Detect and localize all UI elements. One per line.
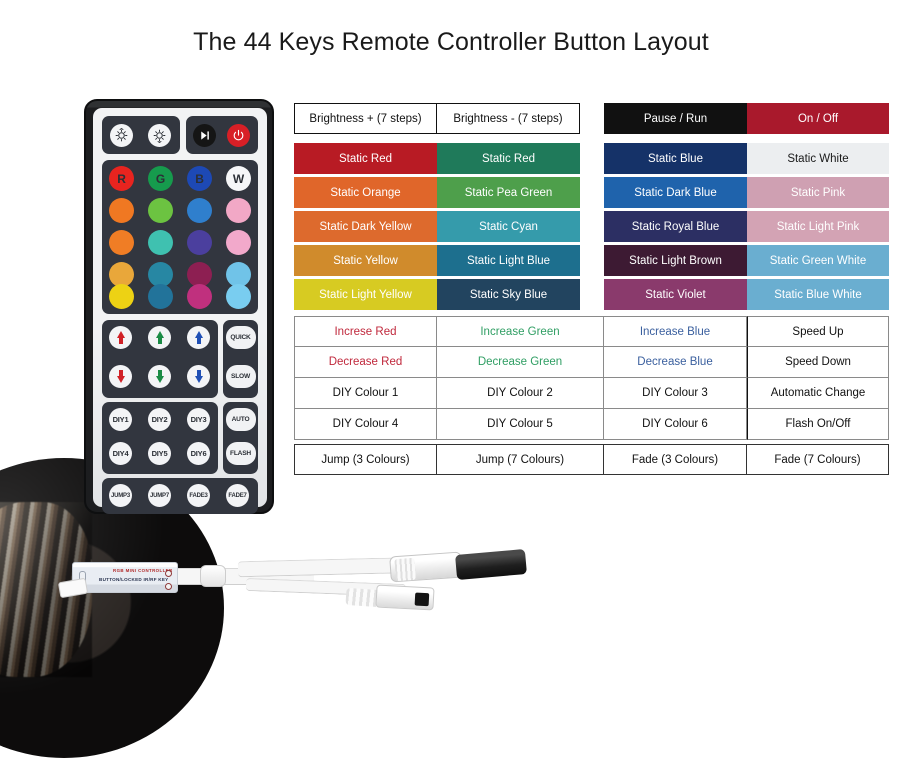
mini-controller-photo: RGB MINI CONTROLLER BUTTON/LOCKED IR/RF … (60, 548, 540, 638)
color-key-light-yellow[interactable] (109, 284, 134, 309)
cell-control[interactable]: Increase Green (437, 316, 604, 347)
auto-key[interactable]: AUTO (226, 408, 256, 431)
color-key-sky-blue[interactable] (148, 284, 173, 309)
cell-control[interactable]: Decrease Blue (604, 347, 747, 378)
power-key[interactable] (227, 124, 250, 147)
cell-control[interactable]: Decrease Green (437, 347, 604, 378)
auto-key-label: AUTO (232, 416, 250, 423)
cell-jump-fade[interactable]: Fade (3 Colours) (604, 444, 747, 475)
cell-brightness-minus[interactable]: Brightness - (7 steps) (437, 103, 580, 134)
diy2-label: DIY2 (152, 415, 168, 424)
color-key-dark-blue[interactable] (187, 198, 212, 223)
color-key-label: W (233, 172, 244, 186)
cell-control[interactable]: Increase Blue (604, 316, 747, 347)
barrel-jack-male (455, 549, 527, 580)
table-row-control: Increse RedIncrease GreenIncrease BlueSp… (294, 316, 889, 347)
color-key-label: G (156, 172, 165, 186)
cell-static-color[interactable]: Static Blue (604, 143, 747, 174)
fade3-label: FADE3 (189, 493, 207, 499)
cell-static-color[interactable]: Static Royal Blue (604, 211, 747, 242)
cell-static-color[interactable]: Static Light Blue (437, 245, 580, 276)
increase-green-key[interactable] (148, 326, 171, 349)
cell-static-color[interactable]: Static Red (294, 143, 437, 174)
cell-control[interactable]: Automatic Change (747, 378, 889, 409)
table-row-control: Decrease RedDecrease GreenDecrease BlueS… (294, 347, 889, 378)
color-key-cyan[interactable] (148, 230, 173, 255)
fade3-key[interactable]: FADE3 (187, 484, 210, 507)
flash-key[interactable]: FLASH (226, 442, 256, 465)
cell-static-color[interactable]: Static Orange (294, 177, 437, 208)
diy1-key[interactable]: DIY1 (109, 408, 132, 431)
cell-static-color[interactable]: Static Blue White (747, 279, 889, 310)
jump3-label: JUMP3 (111, 493, 130, 499)
cell-control[interactable]: Speed Down (747, 347, 889, 378)
arrow-up-icon (195, 331, 203, 344)
cell-static-color[interactable]: Static Pea Green (437, 177, 580, 208)
color-key-label: B (195, 172, 203, 186)
cell-static-color[interactable]: Static Light Brown (604, 245, 747, 276)
cell-control[interactable]: DIY Colour 4 (294, 409, 437, 440)
cell-jump-fade[interactable]: Jump (7 Colours) (437, 444, 604, 475)
table-row-control: DIY Colour 4DIY Colour 5DIY Colour 6Flas… (294, 409, 889, 440)
spacer-column (580, 103, 604, 134)
static-color-rows: Static RedStatic RedStatic BlueStatic Wh… (294, 143, 889, 310)
diy4-label: DIY4 (113, 449, 129, 458)
rgb-adjust-keypad (102, 320, 218, 398)
cell-static-color[interactable]: Static Red (437, 143, 580, 174)
cell-control[interactable]: DIY Colour 1 (294, 378, 437, 409)
table-row-static: Static OrangeStatic Pea GreenStatic Dark… (294, 177, 889, 208)
diy3-key[interactable]: DIY3 (187, 408, 210, 431)
cell-static-color[interactable]: Static White (747, 143, 889, 174)
table-row-static: Static Dark YellowStatic CyanStatic Roya… (294, 211, 889, 242)
decrease-green-key[interactable] (148, 365, 171, 388)
table-row-control: DIY Colour 1DIY Colour 2DIY Colour 3Auto… (294, 378, 889, 409)
cell-static-color[interactable]: Static Dark Yellow (294, 211, 437, 242)
controller-body: RGB MINI CONTROLLER BUTTON/LOCKED IR/RF … (72, 562, 178, 593)
remote-faceplate: R G B W (93, 108, 267, 507)
cell-jump-fade[interactable]: Fade (7 Colours) (747, 444, 889, 475)
color-key-blue[interactable]: B (187, 166, 212, 191)
button-layout-table: Brightness + (7 steps) Brightness - (7 s… (294, 103, 889, 475)
decrease-red-key[interactable] (109, 365, 132, 388)
cell-control[interactable]: Increse Red (294, 316, 437, 347)
power-keypad (186, 116, 258, 154)
table-row-static: Static YellowStatic Light BlueStatic Lig… (294, 245, 889, 276)
arrow-down-icon (156, 370, 164, 383)
cell-static-color[interactable]: Static Violet (604, 279, 747, 310)
diy6-label: DIY6 (191, 449, 207, 458)
mode-keypad: AUTO FLASH (223, 402, 258, 474)
decrease-blue-key[interactable] (187, 365, 210, 388)
cell-brightness-plus[interactable]: Brightness + (7 steps) (294, 103, 437, 134)
table-row-jump-fade: Jump (3 Colours)Jump (7 Colours)Fade (3 … (294, 444, 889, 475)
color-key-violet[interactable] (187, 284, 212, 309)
spacer-column (580, 211, 604, 242)
row-spacer (294, 134, 889, 143)
barrel-jack-female (389, 552, 463, 583)
slow-key-label: SLOW (231, 373, 250, 380)
cell-static-color[interactable]: Static Light Yellow (294, 279, 437, 310)
color-key-orange[interactable] (109, 198, 134, 223)
cell-static-color[interactable]: Static Pink (747, 177, 889, 208)
diy6-key[interactable]: DIY6 (187, 442, 210, 465)
remote-controller: R G B W (84, 99, 274, 514)
color-key-blue-white[interactable] (226, 284, 251, 309)
speed-keypad: QUICK SLOW (223, 320, 258, 398)
fade7-key[interactable]: FADE7 (226, 484, 249, 507)
cell-control[interactable]: DIY Colour 2 (437, 378, 604, 409)
diy5-key[interactable]: DIY5 (148, 442, 171, 465)
controller-label-red: RGB MINI CONTROLLER (113, 568, 173, 573)
arrow-up-icon (117, 331, 125, 344)
brightness-keypad (102, 116, 180, 154)
diy4-key[interactable]: DIY4 (109, 442, 132, 465)
flash-key-label: FLASH (230, 450, 251, 457)
spacer-column (580, 279, 604, 310)
color-key-dark-yellow[interactable] (109, 230, 134, 255)
controller-strip-plug (58, 578, 88, 599)
spacer-column (580, 245, 604, 276)
page-title: The 44 Keys Remote Controller Button Lay… (0, 28, 902, 57)
color-keypad: R G B W (102, 160, 258, 314)
cell-control[interactable]: DIY Colour 5 (437, 409, 604, 440)
jump7-label: JUMP7 (150, 493, 169, 499)
arrow-down-icon (117, 370, 125, 383)
spacer-column (580, 177, 604, 208)
arrow-down-icon (195, 370, 203, 383)
diy1-label: DIY1 (113, 415, 129, 424)
color-key-royal-blue[interactable] (187, 230, 212, 255)
cell-static-color[interactable]: Static Cyan (437, 211, 580, 242)
color-key-pink[interactable] (226, 198, 251, 223)
color-key-pea-green[interactable] (148, 198, 173, 223)
quick-key-label: QUICK (230, 334, 250, 341)
cell-static-color[interactable]: Static Yellow (294, 245, 437, 276)
sun-plus-icon (114, 128, 129, 143)
table-row-header: Brightness + (7 steps) Brightness - (7 s… (294, 103, 889, 134)
play-pause-key[interactable] (193, 124, 216, 147)
cell-control[interactable]: DIY Colour 6 (604, 409, 747, 440)
diy2-key[interactable]: DIY2 (148, 408, 171, 431)
power-icon (232, 129, 245, 142)
brightness-up-key[interactable] (110, 124, 133, 147)
brightness-down-key[interactable] (148, 124, 171, 147)
cell-static-color[interactable]: Static Dark Blue (604, 177, 747, 208)
color-key-label: R (117, 172, 125, 186)
table-row-static: Static RedStatic RedStatic BlueStatic Wh… (294, 143, 889, 174)
slow-key[interactable]: SLOW (226, 365, 256, 388)
cell-control[interactable]: Speed Up (747, 316, 889, 347)
controller-port-bottom (165, 583, 172, 590)
controller-port-top (165, 570, 172, 577)
jump-fade-keypad: JUMP3 JUMP7 FADE3 FADE7 (102, 478, 258, 514)
diy3-label: DIY3 (191, 415, 207, 424)
play-pause-icon (198, 129, 211, 142)
color-key-light-pink[interactable] (226, 230, 251, 255)
arrow-up-icon (156, 331, 164, 344)
cable-sleeve (200, 565, 226, 587)
table-row-static: Static Light YellowStatic Sky BlueStatic… (294, 279, 889, 310)
color-key-green[interactable]: G (148, 166, 173, 191)
control-rows: Increse RedIncrease GreenIncrease BlueSp… (294, 316, 889, 440)
quick-key[interactable]: QUICK (226, 326, 256, 349)
spacer-column (580, 143, 604, 174)
cell-jump-fade[interactable]: Jump (3 Colours) (294, 444, 437, 475)
cell-control[interactable]: Decrease Red (294, 347, 437, 378)
jump3-key[interactable]: JUMP3 (109, 484, 132, 507)
color-key-white[interactable]: W (226, 166, 251, 191)
mini-usb-plug (375, 584, 434, 610)
color-key-red[interactable]: R (109, 166, 134, 191)
increase-blue-key[interactable] (187, 326, 210, 349)
cell-static-color[interactable]: Static Light Pink (747, 211, 889, 242)
cell-static-color[interactable]: Static Green White (747, 245, 889, 276)
controller-label-dark: BUTTON/LOCKED IR/RF KEY (99, 577, 168, 582)
jump7-key[interactable]: JUMP7 (148, 484, 171, 507)
cell-static-color[interactable]: Static Sky Blue (437, 279, 580, 310)
cell-pause-run[interactable]: Pause / Run (604, 103, 747, 134)
diy-keypad: DIY1 DIY2 DIY3 DIY4 DIY5 DIY6 (102, 402, 218, 474)
sun-minus-icon (152, 128, 167, 143)
fade7-label: FADE7 (228, 493, 246, 499)
cell-on-off[interactable]: On / Off (747, 103, 889, 134)
increase-red-key[interactable] (109, 326, 132, 349)
cell-control[interactable]: Flash On/Off (747, 409, 889, 440)
cell-control[interactable]: DIY Colour 3 (604, 378, 747, 409)
diy5-label: DIY5 (152, 449, 168, 458)
